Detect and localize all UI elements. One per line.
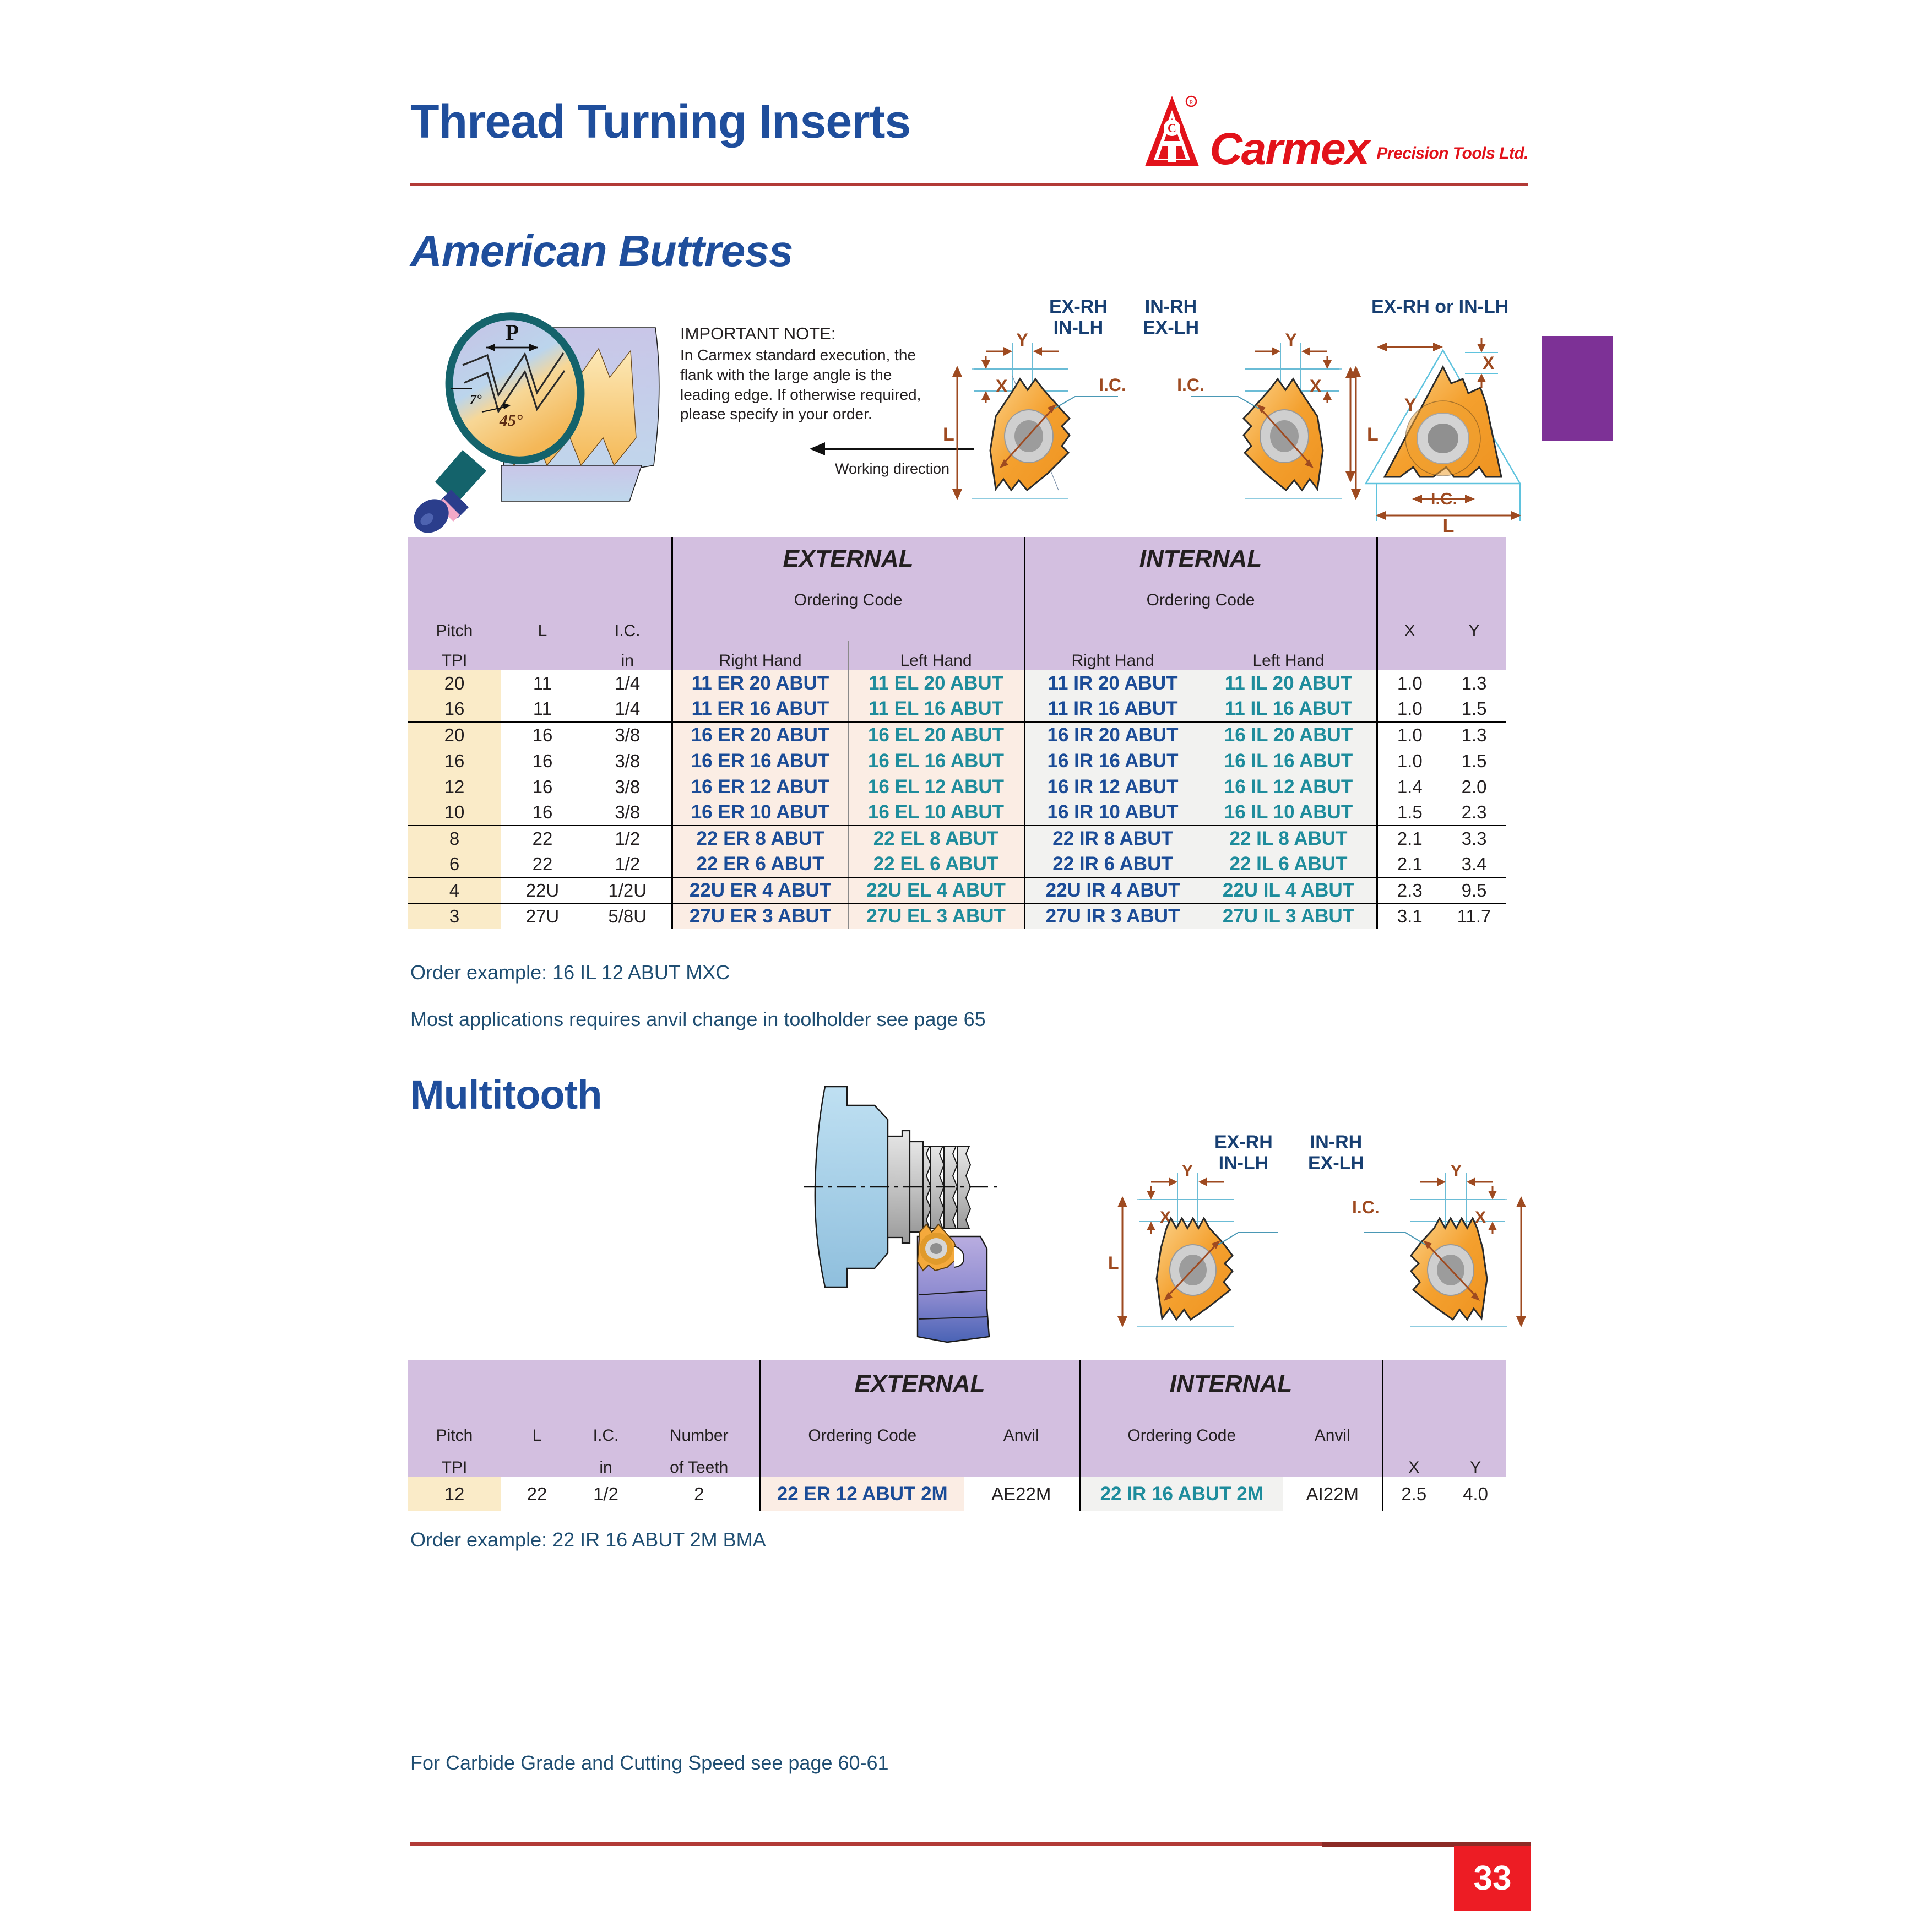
header-int-right-hand: Right Hand bbox=[1024, 641, 1201, 670]
col-blank-xy bbox=[1377, 537, 1506, 610]
buttress-anvil-note: Most applications requires anvil change … bbox=[410, 1008, 986, 1031]
buttress-order-example: Order example: 16 IL 12 ABUT MXC bbox=[410, 961, 730, 984]
dim-x-label: X bbox=[1310, 376, 1322, 396]
cell-pitch: 16 bbox=[408, 748, 501, 774]
mt-header-ext-blank bbox=[760, 1445, 964, 1477]
cell-internal-right-hand: 16 IR 12 ABUT bbox=[1024, 774, 1201, 800]
cell-y: 1.3 bbox=[1442, 722, 1506, 748]
dim-y-label: Y bbox=[1016, 330, 1028, 350]
dim-y-label: Y bbox=[1404, 395, 1416, 415]
cell-internal-right-hand: 27U IR 3 ABUT bbox=[1024, 903, 1201, 929]
cell-internal-right-hand: 11 IR 20 ABUT bbox=[1024, 670, 1201, 696]
cell-x: 1.0 bbox=[1377, 748, 1442, 774]
cell-pitch: 16 bbox=[408, 696, 501, 722]
header-y: Y bbox=[1442, 610, 1506, 641]
turning-operation-illustration bbox=[782, 1071, 1090, 1347]
footer-note: For Carbide Grade and Cutting Speed see … bbox=[410, 1751, 889, 1774]
cell-ic: 3/8 bbox=[584, 722, 672, 748]
mt-header-int-anvil: Anvil bbox=[1283, 1413, 1382, 1445]
header-ic: I.C. bbox=[584, 610, 672, 641]
cell-y: 9.5 bbox=[1442, 877, 1506, 903]
header-in: in bbox=[584, 641, 672, 670]
cell-external-right-hand: 27U ER 3 ABUT bbox=[672, 903, 848, 929]
cell-internal-right-hand: 22 IR 8 ABUT bbox=[1024, 826, 1201, 851]
cell-internal-left-hand: 16 IL 16 ABUT bbox=[1201, 748, 1377, 774]
cell-ic: 3/8 bbox=[584, 774, 672, 800]
mt-header-ic: I.C. bbox=[573, 1413, 639, 1445]
cell-l: 16 bbox=[501, 774, 584, 800]
cell-external-left-hand: 16 EL 20 ABUT bbox=[848, 722, 1024, 748]
header-external: EXTERNAL bbox=[672, 537, 1024, 581]
cell-x: 1.0 bbox=[1377, 696, 1442, 722]
cell-external-anvil: AE22M bbox=[964, 1477, 1079, 1511]
cell-l: 22 bbox=[501, 851, 584, 877]
cell-l: 22 bbox=[501, 1477, 573, 1511]
cell-internal-right-hand: 22U IR 4 ABUT bbox=[1024, 877, 1201, 903]
dim-ic-label: I.C. bbox=[1177, 375, 1204, 395]
cell-internal-left-hand: 22U IL 4 ABUT bbox=[1201, 877, 1377, 903]
multitooth-spec-table: EXTERNAL INTERNAL Pitch L I.C. Number Or… bbox=[408, 1360, 1506, 1511]
table-row: 8221/222 ER 8 ABUT22 EL 8 ABUT22 IR 8 AB… bbox=[408, 826, 1506, 851]
mt-header-pitch: Pitch bbox=[408, 1413, 501, 1445]
col-blank-l-ic bbox=[501, 537, 672, 610]
cell-l: 22U bbox=[501, 877, 584, 903]
dim-y-label: Y bbox=[1451, 1162, 1462, 1180]
header-tpi: TPI bbox=[408, 641, 501, 670]
cell-internal-right-hand: 16 IR 10 ABUT bbox=[1024, 800, 1201, 826]
mt-header-int-anvil-blank bbox=[1283, 1445, 1382, 1477]
cell-y: 1.5 bbox=[1442, 748, 1506, 774]
carmex-triangle-icon: C R bbox=[1142, 94, 1202, 171]
mt-header-ext-anvil: Anvil bbox=[964, 1413, 1079, 1445]
svg-text:R: R bbox=[1189, 99, 1193, 106]
table-row: 422U1/2U22U ER 4 ABUT22U EL 4 ABUT22U IR… bbox=[408, 877, 1506, 903]
note-body: In Carmex standard execution, the flank … bbox=[680, 345, 945, 424]
table-row: 20111/411 ER 20 ABUT11 EL 20 ABUT11 IR 2… bbox=[408, 670, 1506, 696]
section-title-multitooth: Multitooth bbox=[410, 1071, 602, 1118]
table-row: 16163/816 ER 16 ABUT16 EL 16 ABUT16 IR 1… bbox=[408, 748, 1506, 774]
cell-l: 16 bbox=[501, 800, 584, 826]
cell-ic: 5/8U bbox=[584, 903, 672, 929]
angle-7-label: 7° bbox=[470, 393, 482, 407]
svg-text:C: C bbox=[1168, 121, 1176, 135]
cell-number-of-teeth: 2 bbox=[639, 1477, 760, 1511]
insert-diagram-external-rh: Y X L I.C. bbox=[931, 308, 1162, 529]
cell-external-right-hand: 16 ER 16 ABUT bbox=[672, 748, 848, 774]
cell-internal-left-hand: 16 IL 12 ABUT bbox=[1201, 774, 1377, 800]
multitooth-order-example: Order example: 22 IR 16 ABUT 2M BMA bbox=[410, 1528, 766, 1551]
page-header: Thread Turning Inserts C R Carmex Precis… bbox=[410, 83, 1528, 187]
brand-tagline: Precision Tools Ltd. bbox=[1376, 144, 1528, 171]
cell-internal-left-hand: 16 IL 10 ABUT bbox=[1201, 800, 1377, 826]
col-blank-pitch bbox=[408, 537, 501, 610]
cell-internal-left-hand: 16 IL 20 ABUT bbox=[1201, 722, 1377, 748]
section-color-tab bbox=[1542, 336, 1613, 441]
header-l: L bbox=[501, 610, 584, 641]
cell-l: 11 bbox=[501, 696, 584, 722]
cell-external-left-hand: 22U EL 4 ABUT bbox=[848, 877, 1024, 903]
cell-ic: 1/4 bbox=[584, 696, 672, 722]
cell-pitch: 8 bbox=[408, 826, 501, 851]
cell-external-left-hand: 11 EL 16 ABUT bbox=[848, 696, 1024, 722]
cell-external-left-hand: 11 EL 20 ABUT bbox=[848, 670, 1024, 696]
cell-internal-right-hand: 22 IR 6 ABUT bbox=[1024, 851, 1201, 877]
mt-header-x: X bbox=[1382, 1445, 1445, 1477]
cell-pitch: 3 bbox=[408, 903, 501, 929]
cell-external-left-hand: 16 EL 10 ABUT bbox=[848, 800, 1024, 826]
diagram-label-view3: EX-RH or IN-LH bbox=[1371, 296, 1508, 317]
mt-header-ext-ordering-code: Ordering Code bbox=[760, 1413, 964, 1445]
dim-x-label: X bbox=[1483, 353, 1495, 373]
cell-external-right-hand: 22U ER 4 ABUT bbox=[672, 877, 848, 903]
mt-insert-diagram-external: Y X L bbox=[1096, 1140, 1327, 1355]
cell-x: 2.1 bbox=[1377, 826, 1442, 851]
cell-external-right-hand: 16 ER 20 ABUT bbox=[672, 722, 848, 748]
mt-header-tpi: TPI bbox=[408, 1445, 501, 1477]
cell-y: 3.3 bbox=[1442, 826, 1506, 851]
cell-ic: 1/2 bbox=[573, 1477, 639, 1511]
section-title-buttress: American Buttress bbox=[410, 226, 793, 276]
cell-external-right-hand: 11 ER 16 ABUT bbox=[672, 696, 848, 722]
table-row: 12221/2222 ER 12 ABUT 2MAE22M22 IR 16 AB… bbox=[408, 1477, 1506, 1511]
cell-l: 16 bbox=[501, 748, 584, 774]
mt-col-blank-xy bbox=[1382, 1360, 1506, 1445]
page-number-badge: 33 bbox=[1454, 1846, 1531, 1911]
cell-l: 27U bbox=[501, 903, 584, 929]
cell-internal-left-hand: 11 IL 20 ABUT bbox=[1201, 670, 1377, 696]
dim-ic-label: I.C. bbox=[1099, 375, 1126, 395]
header-divider bbox=[410, 183, 1528, 186]
header-x-blank bbox=[1377, 641, 1442, 670]
mt-header-number: Number bbox=[639, 1413, 760, 1445]
cell-y: 2.0 bbox=[1442, 774, 1506, 800]
header-int-lh bbox=[1201, 610, 1377, 641]
dim-l-label: L bbox=[943, 424, 954, 445]
cell-external-left-hand: 22 EL 8 ABUT bbox=[848, 826, 1024, 851]
cell-y: 1.3 bbox=[1442, 670, 1506, 696]
cell-external-left-hand: 16 EL 12 ABUT bbox=[848, 774, 1024, 800]
header-ext-right-hand: Right Hand bbox=[672, 641, 848, 670]
cell-internal-right-hand: 11 IR 16 ABUT bbox=[1024, 696, 1201, 722]
insert-diagram-triangle: X Y I.C. L bbox=[1338, 318, 1548, 533]
header-int-rh bbox=[1024, 610, 1201, 641]
buttress-spec-table: EXTERNAL INTERNAL Ordering Code Ordering… bbox=[408, 537, 1506, 929]
important-note: IMPORTANT NOTE: In Carmex standard execu… bbox=[680, 324, 945, 424]
header-pitch: Pitch bbox=[408, 610, 501, 641]
mt-header-in: in bbox=[573, 1445, 639, 1477]
cell-external-left-hand: 27U EL 3 ABUT bbox=[848, 903, 1024, 929]
table-row: 16111/411 ER 16 ABUT11 EL 16 ABUT11 IR 1… bbox=[408, 696, 1506, 722]
mt-header-y: Y bbox=[1445, 1445, 1506, 1477]
cell-internal-left-hand: 22 IL 8 ABUT bbox=[1201, 826, 1377, 851]
catalog-page: Thread Turning Inserts C R Carmex Precis… bbox=[0, 0, 1932, 1932]
cell-x: 1.4 bbox=[1377, 774, 1442, 800]
dim-y-label: Y bbox=[1285, 330, 1296, 350]
cell-internal-left-hand: 22 IL 6 ABUT bbox=[1201, 851, 1377, 877]
cell-external-left-hand: 22 EL 6 ABUT bbox=[848, 851, 1024, 877]
note-heading: IMPORTANT NOTE: bbox=[680, 324, 945, 344]
cell-y: 2.3 bbox=[1442, 800, 1506, 826]
cell-internal-anvil: AI22M bbox=[1283, 1477, 1382, 1511]
dim-x-label: X bbox=[996, 376, 1008, 396]
brand-logo: C R Carmex Precision Tools Ltd. bbox=[1142, 94, 1528, 171]
cell-internal-code: 22 IR 16 ABUT 2M bbox=[1079, 1477, 1283, 1511]
cell-external-right-hand: 16 ER 12 ABUT bbox=[672, 774, 848, 800]
header-ext-ordering-code: Ordering Code bbox=[672, 581, 1024, 610]
cell-ic: 1/2U bbox=[584, 877, 672, 903]
cell-l: 16 bbox=[501, 722, 584, 748]
cell-external-right-hand: 16 ER 10 ABUT bbox=[672, 800, 848, 826]
mt-header-l: L bbox=[501, 1413, 573, 1445]
cell-external-left-hand: 16 EL 16 ABUT bbox=[848, 748, 1024, 774]
cell-external-right-hand: 22 ER 6 ABUT bbox=[672, 851, 848, 877]
mt-insert-diagram-internal: Y X bbox=[1316, 1140, 1548, 1355]
cell-internal-left-hand: 11 IL 16 ABUT bbox=[1201, 696, 1377, 722]
header-int-ordering-code: Ordering Code bbox=[1024, 581, 1377, 610]
cell-x: 1.0 bbox=[1377, 722, 1442, 748]
cell-pitch: 6 bbox=[408, 851, 501, 877]
header-ext-rh bbox=[672, 610, 848, 641]
cell-external-right-hand: 22 ER 8 ABUT bbox=[672, 826, 848, 851]
cell-x: 2.5 bbox=[1382, 1477, 1445, 1511]
header-ext-left-hand: Left Hand bbox=[848, 641, 1024, 670]
cell-y: 3.4 bbox=[1442, 851, 1506, 877]
header-x: X bbox=[1377, 610, 1442, 641]
cell-internal-left-hand: 27U IL 3 ABUT bbox=[1201, 903, 1377, 929]
mt-header-int-blank bbox=[1079, 1445, 1283, 1477]
cell-l: 22 bbox=[501, 826, 584, 851]
table-row: 10163/816 ER 10 ABUT16 EL 10 ABUT16 IR 1… bbox=[408, 800, 1506, 826]
mt-header-external: EXTERNAL bbox=[760, 1360, 1079, 1408]
cell-l: 11 bbox=[501, 670, 584, 696]
cell-pitch: 12 bbox=[408, 774, 501, 800]
cell-ic: 1/2 bbox=[584, 826, 672, 851]
cell-internal-right-hand: 16 IR 20 ABUT bbox=[1024, 722, 1201, 748]
cell-ic: 3/8 bbox=[584, 800, 672, 826]
cell-pitch: 10 bbox=[408, 800, 501, 826]
dim-l-label: L bbox=[1108, 1253, 1119, 1273]
header-l-blank bbox=[501, 641, 584, 670]
cell-ic: 1/2 bbox=[584, 851, 672, 877]
mt-header-l-blank bbox=[501, 1445, 573, 1477]
cell-x: 1.0 bbox=[1377, 670, 1442, 696]
cell-ic: 1/4 bbox=[584, 670, 672, 696]
header-internal: INTERNAL bbox=[1024, 537, 1377, 581]
cell-x: 2.1 bbox=[1377, 851, 1442, 877]
cell-pitch: 12 bbox=[408, 1477, 501, 1511]
table-row: 6221/222 ER 6 ABUT22 EL 6 ABUT22 IR 6 AB… bbox=[408, 851, 1506, 877]
thread-profile-illustration: P 7° 45° bbox=[405, 300, 680, 531]
mt-header-of-teeth: of Teeth bbox=[639, 1445, 760, 1477]
dim-y-label: Y bbox=[1182, 1162, 1193, 1180]
header-y-blank bbox=[1442, 641, 1506, 670]
mt-col-blank-left bbox=[408, 1360, 760, 1413]
cell-y: 11.7 bbox=[1442, 903, 1506, 929]
header-ext-lh bbox=[848, 610, 1024, 641]
cell-pitch: 20 bbox=[408, 670, 501, 696]
dim-ic-label: I.C. bbox=[1431, 489, 1457, 508]
angle-45-label: 45° bbox=[499, 411, 523, 430]
cell-external-right-hand: 11 ER 20 ABUT bbox=[672, 670, 848, 696]
table-row: 12163/816 ER 12 ABUT16 EL 12 ABUT16 IR 1… bbox=[408, 774, 1506, 800]
cell-y: 1.5 bbox=[1442, 696, 1506, 722]
cell-x: 3.1 bbox=[1377, 903, 1442, 929]
dim-x-label: X bbox=[1475, 1208, 1486, 1227]
mt-spacer-ext bbox=[760, 1408, 1079, 1413]
cell-pitch: 20 bbox=[408, 722, 501, 748]
table-row: 20163/816 ER 20 ABUT16 EL 20 ABUT16 IR 2… bbox=[408, 722, 1506, 748]
cell-ic: 3/8 bbox=[584, 748, 672, 774]
mt-header-int-ordering-code: Ordering Code bbox=[1079, 1413, 1283, 1445]
mt-header-ext-anvil-blank bbox=[964, 1445, 1079, 1477]
brand-name: Carmex bbox=[1210, 128, 1369, 171]
header-int-left-hand: Left Hand bbox=[1201, 641, 1377, 670]
mt-spacer-int bbox=[1079, 1408, 1382, 1413]
dim-l-label: L bbox=[1443, 515, 1455, 536]
cell-x: 2.3 bbox=[1377, 877, 1442, 903]
page-title: Thread Turning Inserts bbox=[410, 95, 910, 149]
mt-header-internal: INTERNAL bbox=[1079, 1360, 1382, 1408]
table-row: 327U5/8U27U ER 3 ABUT27U EL 3 ABUT27U IR… bbox=[408, 903, 1506, 929]
cell-y: 4.0 bbox=[1445, 1477, 1506, 1511]
cell-pitch: 4 bbox=[408, 877, 501, 903]
cell-internal-right-hand: 16 IR 16 ABUT bbox=[1024, 748, 1201, 774]
pitch-label: P bbox=[506, 320, 519, 345]
cell-x: 1.5 bbox=[1377, 800, 1442, 826]
cell-external-code: 22 ER 12 ABUT 2M bbox=[760, 1477, 964, 1511]
